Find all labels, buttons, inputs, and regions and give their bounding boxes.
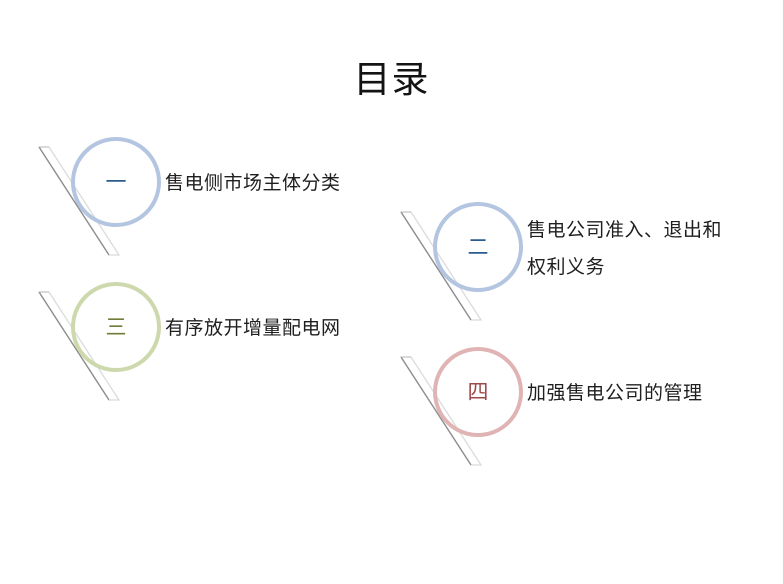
page-title: 目录 [0,58,783,104]
toc-item-label-line: 加强售电公司的管理 [527,375,757,412]
toc-item-number-circle[interactable]: 三 [71,282,161,372]
toc-item-label[interactable]: 售电公司准入、退出和 权利义务 [527,212,757,286]
toc-item-numeral: 一 [106,172,127,193]
toc-item-number-circle[interactable]: 一 [71,137,161,227]
toc-item[interactable]: 二 售电公司准入、退出和 权利义务 [390,198,750,328]
toc-item-label-line: 售电公司准入、退出和 [527,212,757,249]
toc-item-label[interactable]: 加强售电公司的管理 [527,375,757,412]
toc-item[interactable]: 三 有序放开增量配电网 [28,278,388,408]
toc-item-label[interactable]: 售电侧市场主体分类 [165,165,395,202]
toc-item-label-line: 有序放开增量配电网 [165,310,395,347]
toc-item-numeral: 三 [106,317,127,338]
toc-item-label-line: 售电侧市场主体分类 [165,165,395,202]
toc-item-label[interactable]: 有序放开增量配电网 [165,310,395,347]
toc-item-label-line: 权利义务 [527,249,757,286]
toc-item-number-circle[interactable]: 四 [433,347,523,437]
toc-item[interactable]: 四 加强售电公司的管理 [390,343,750,473]
toc-item-numeral: 四 [468,382,489,403]
slide-canvas: 目录 一 售电侧市场主体分类 二 售电公司准入、退出和 [0,0,783,584]
toc-item-numeral: 二 [468,237,489,258]
toc-item-number-circle[interactable]: 二 [433,202,523,292]
toc-item[interactable]: 一 售电侧市场主体分类 [28,133,388,263]
